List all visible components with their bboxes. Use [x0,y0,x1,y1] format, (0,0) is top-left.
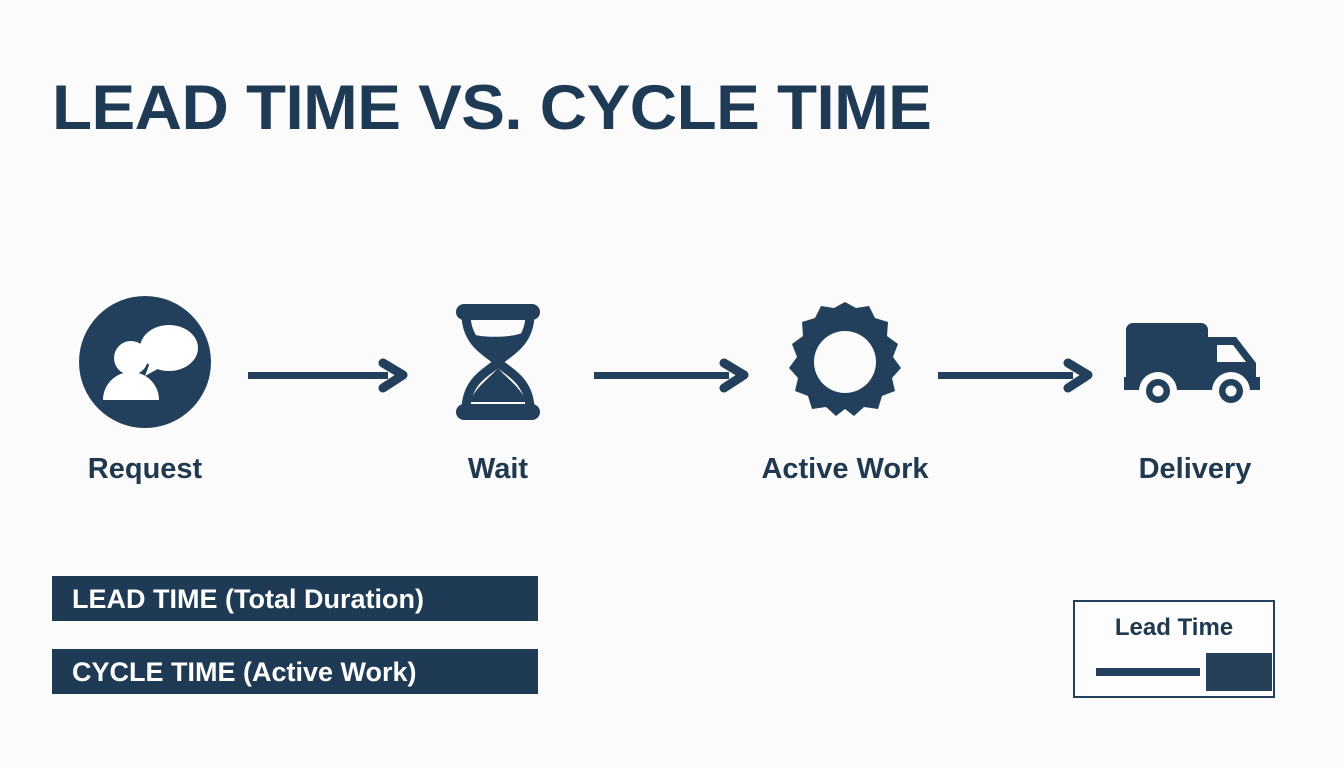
gear-icon [735,300,955,424]
arrow-right-icon [248,355,408,395]
page-title: LEAD TIME VS. CYCLE TIME [52,72,931,144]
lead-time-bar: LEAD TIME (Total Duration) [52,576,538,621]
flow-step-label: Active Work [735,452,955,486]
arrow-right-icon [938,355,1093,395]
legend-line-swatch [1096,668,1200,676]
flow-step-wait: Wait [388,300,608,500]
person-speech-bubble-icon [35,300,255,424]
flow-step-delivery: Delivery [1085,300,1305,500]
cycle-time-bar-label: CYCLE TIME (Active Work) [52,657,417,687]
flow-step-request: Request [35,300,255,500]
legend-title: Lead Time [1075,614,1273,642]
flow-step-label: Wait [388,452,608,486]
lead-time-bar-label: LEAD TIME (Total Duration) [52,584,424,614]
flow-step-active-work: Active Work [735,300,955,500]
arrow-right-icon [594,355,749,395]
legend-box: Lead Time [1073,600,1275,698]
infographic-canvas: LEAD TIME VS. CYCLE TIME Request [0,0,1344,768]
legend-fill-swatch [1206,653,1272,691]
flow-step-label: Request [35,452,255,486]
process-flow: Request Wait [0,300,1344,500]
flow-step-label: Delivery [1085,452,1305,486]
cycle-time-bar: CYCLE TIME (Active Work) [52,649,538,694]
delivery-truck-icon [1085,300,1305,424]
hourglass-icon [388,300,608,424]
